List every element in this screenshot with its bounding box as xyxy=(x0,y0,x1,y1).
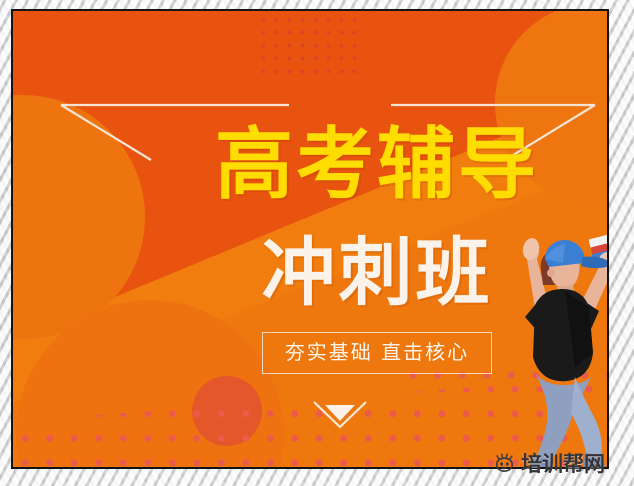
watermark: 培训帮网 xyxy=(494,452,605,476)
chevron-down-icon xyxy=(312,399,368,431)
headline-primary: 高考辅导 xyxy=(13,123,607,207)
subtitle-container: 夯实基础 直击核心 xyxy=(13,332,607,374)
subtitle-text: 夯实基础 直击核心 xyxy=(262,332,492,374)
banner-canvas: 高考辅导 冲刺班 夯实基础 直击核心 xyxy=(13,11,607,467)
banner-screenshot: 高考辅导 冲刺班 夯实基础 直击核心 xyxy=(0,0,634,486)
banner-frame: 高考辅导 冲刺班 夯实基础 直击核心 xyxy=(11,9,609,469)
watermark-text: 培训帮网 xyxy=(521,452,605,476)
headline-secondary: 冲刺班 xyxy=(13,233,607,313)
smiley-sun-icon xyxy=(494,453,516,475)
dot-grid-top xyxy=(257,13,357,75)
